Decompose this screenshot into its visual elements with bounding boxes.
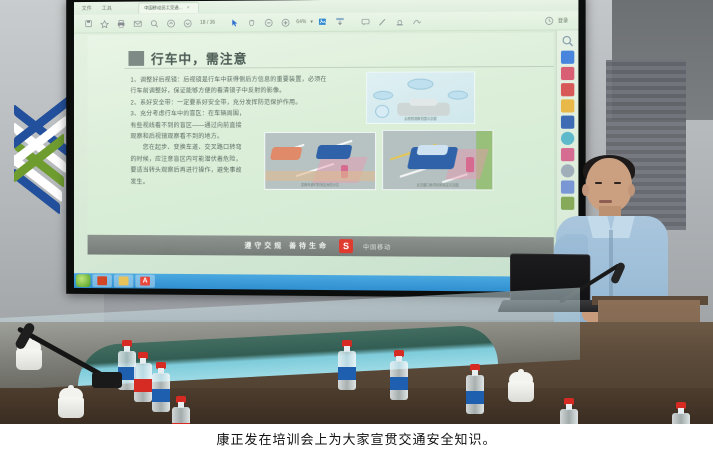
brand-logo-icon: S — [339, 239, 353, 253]
document-tab-title: 中国移动员工交通… — [144, 5, 183, 11]
rail-convert-icon[interactable] — [561, 116, 574, 129]
title-accent-block — [128, 51, 144, 66]
figure-caption: 后视镜观察范围示意图 — [367, 116, 474, 121]
figure-caption: 交叉路口转弯时的盲区示意图 — [383, 182, 492, 187]
next-page-icon[interactable] — [179, 14, 196, 31]
taskbar-powerpoint[interactable] — [92, 274, 111, 287]
brand-name: 中国移动 — [363, 242, 391, 251]
star-icon[interactable] — [96, 15, 113, 32]
teacup — [58, 388, 84, 418]
rail-pdf-to-excel-icon[interactable] — [561, 83, 574, 96]
highlight-pen-tool-icon[interactable] — [374, 13, 391, 30]
water-bottle — [672, 402, 690, 424]
login-button[interactable]: 登录 — [558, 17, 572, 24]
body-line: 2、系好安全带：一定要系好安全带，充分发挥防范保护作用。 — [130, 97, 360, 109]
menu-file[interactable]: 文件 — [82, 5, 92, 12]
body-line: 有些视线看不到的盲区——通过向前直接 — [130, 120, 360, 132]
water-bottle — [466, 364, 484, 414]
water-bottle — [172, 396, 190, 424]
close-icon[interactable]: × — [187, 5, 190, 11]
water-bottle — [338, 340, 356, 390]
start-button[interactable] — [76, 274, 91, 287]
slide-footer: 遵守交规 善待生命 S 中国移动 — [88, 235, 554, 258]
meeting-room-photo: 文件 工具 中国移动员工交通… × — [0, 0, 713, 424]
rail-pdf-to-word-icon[interactable] — [561, 51, 574, 64]
signature-tool-icon[interactable] — [408, 13, 425, 30]
hand-tool-icon[interactable] — [244, 14, 261, 31]
figure-caption: 变换车道时的盲区危险示意 — [265, 182, 375, 187]
fit-width-tool-icon[interactable] — [332, 13, 349, 30]
zoom-in-icon[interactable] — [277, 14, 294, 31]
water-bottle — [390, 350, 408, 400]
reader-toolbar: 18 / 36 64% ▾ — [74, 11, 578, 34]
body-line: 行车前调整好，保证能够方便的看清镜子中反射的影像。 — [130, 85, 360, 97]
slide-footer-slogan: 遵守交规 善待生命 — [244, 241, 328, 251]
table-front-edge — [0, 388, 713, 424]
water-bottle — [560, 398, 578, 424]
print-icon[interactable] — [113, 15, 130, 32]
rail-compress-icon[interactable] — [561, 132, 574, 145]
chevron-down-icon[interactable]: ▾ — [308, 19, 314, 25]
search-icon[interactable] — [146, 15, 163, 32]
blind-spot-lane-change-diagram: 变换车道时的盲区危险示意 — [264, 132, 376, 190]
slide-title: 行车中，需注意 — [151, 48, 247, 67]
rail-pdf-to-ppt-icon[interactable] — [561, 67, 574, 80]
save-icon[interactable] — [80, 15, 97, 32]
page-indicator[interactable]: 18 / 36 — [196, 20, 219, 26]
zoom-out-icon[interactable] — [261, 14, 278, 31]
taskbar-acrobat[interactable]: A — [135, 275, 155, 288]
select-tool-icon[interactable] — [227, 14, 244, 31]
menu-tools[interactable]: 工具 — [102, 5, 112, 12]
rail-search-icon[interactable] — [561, 34, 574, 47]
rail-ocr-icon[interactable] — [561, 99, 574, 112]
document-tab[interactable]: 中国移动员工交通… × — [138, 2, 199, 13]
slide-title-bar: 行车中，需注意 — [128, 48, 247, 67]
blind-spot-turning-diagram: 交叉路口转弯时的盲区示意图 — [382, 130, 493, 191]
stamp-tool-icon[interactable] — [391, 13, 408, 30]
windows-taskbar: A 2015/8/… — [74, 273, 578, 292]
image-caption-strip: 康正发在培训会上为大家宣贯交通安全知识。 — [0, 424, 713, 453]
mail-icon[interactable] — [129, 15, 146, 32]
presenter-head — [586, 158, 632, 212]
previous-page-icon[interactable] — [163, 15, 180, 32]
snapshot-tool-icon[interactable] — [315, 13, 332, 30]
body-line: 3、充分考虑行车中的盲区：在车辆周围， — [130, 108, 360, 120]
image-caption: 康正发在培训会上为大家宣贯交通安全知识。 — [216, 429, 496, 448]
teacup — [508, 372, 534, 402]
taskbar-explorer[interactable] — [114, 274, 134, 287]
zoom-level[interactable]: 64% — [294, 19, 308, 25]
water-bottle — [152, 362, 170, 412]
microphone-base-left — [92, 372, 122, 388]
water-bottle — [134, 352, 152, 402]
pdf-page: 行车中，需注意 1、调整好后视镜：后视镜是行车中获得侧后方信息的重要装置，必须在… — [88, 32, 554, 257]
history-clock-icon[interactable] — [540, 12, 557, 29]
rearview-mirror-diagram: 后视镜观察范围示意图 — [366, 71, 475, 124]
projected-pdf-reader: 文件 工具 中国移动员工交通… × — [74, 0, 578, 292]
projection-screen-frame: 文件 工具 中国移动员工交通… × — [66, 0, 585, 298]
comment-tool-icon[interactable] — [357, 13, 374, 30]
body-line: 1、调整好后视镜：后视镜是行车中获得侧后方信息的重要装置，必须在 — [130, 74, 360, 86]
